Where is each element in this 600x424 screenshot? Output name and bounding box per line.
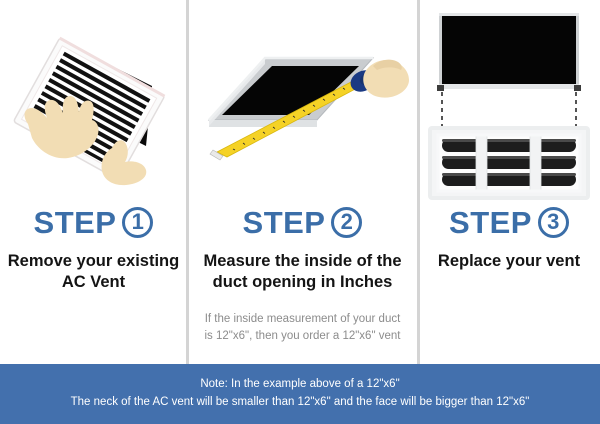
step-3-illustration — [418, 0, 600, 205]
step-2-subtext-line-1: If the inside measurement of your duct — [205, 311, 401, 328]
step-2-label: STEP — [243, 207, 326, 238]
tape-measure-across-duct-opening-icon — [187, 0, 418, 205]
step-1-label: STEP — [34, 207, 117, 238]
step-2-illustration — [187, 0, 418, 205]
step-3-title: Replace your vent — [432, 251, 586, 272]
step-column-2: STEP 2 Measure the inside of the duct op… — [187, 0, 418, 364]
step-2-subtext: If the inside measurement of your duct i… — [193, 311, 413, 346]
step-2-title: Measure the inside of the duct opening i… — [187, 251, 418, 293]
step-column-1: STEP 1 Remove your existing AC Vent — [0, 0, 187, 364]
vent-cover-shape — [430, 128, 588, 198]
step-2-number-badge: 2 — [331, 207, 362, 238]
column-divider-1 — [186, 0, 189, 364]
step-1-title: Remove your existing AC Vent — [0, 251, 187, 293]
step-1-heading: STEP 1 — [34, 205, 154, 239]
vent-cover-aligned-over-duct-icon — [418, 0, 600, 205]
step-1-illustration — [0, 0, 187, 205]
duct-opening-shape — [437, 13, 581, 91]
infographic-page: STEP 1 Remove your existing AC Vent — [0, 0, 600, 424]
alignment-guide-lines — [442, 92, 576, 128]
right-hand-shape — [363, 60, 409, 98]
column-divider-2 — [417, 0, 420, 364]
step-2-heading: STEP 2 — [243, 205, 363, 239]
note-banner-line-2: The neck of the AC vent will be smaller … — [71, 394, 530, 412]
step-1-number-badge: 1 — [122, 207, 153, 238]
hand-removing-ac-vent-grille-icon — [0, 0, 187, 205]
note-banner: Note: In the example above of a 12"x6" T… — [0, 364, 600, 424]
step-2-subtext-line-2: is 12"x6", then you order a 12"x6" vent — [205, 328, 401, 345]
steps-row: STEP 1 Remove your existing AC Vent — [0, 0, 600, 364]
note-banner-line-1: Note: In the example above of a 12"x6" — [200, 376, 399, 394]
step-3-number-badge: 3 — [538, 207, 569, 238]
step-column-3: STEP 3 Replace your vent — [418, 0, 600, 364]
step-3-label: STEP — [449, 207, 532, 238]
step-3-heading: STEP 3 — [449, 205, 569, 239]
